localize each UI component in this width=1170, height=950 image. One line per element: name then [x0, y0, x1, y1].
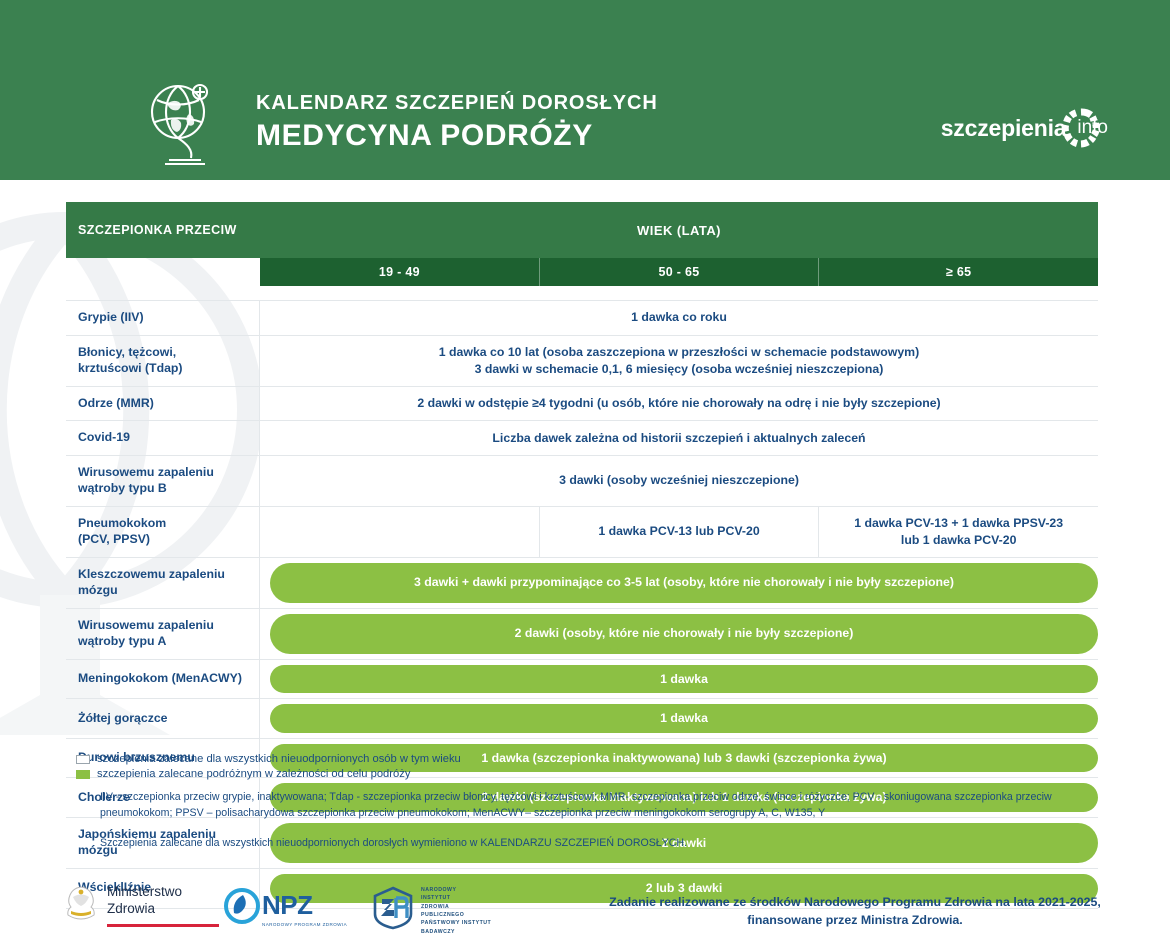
pzh-logo[interactable]: NARODOWY INSTYTUT ZDROWIA PUBLICZNEGO PA… [372, 886, 491, 936]
age-group-19-49: 19 - 49 [260, 258, 540, 286]
row-label-vaccine: Kleszczowemu zapaleniumózgu [66, 558, 260, 608]
table-row: Odrze (MMR)2 dawki w odstępie ≥4 tygodni… [66, 387, 1098, 422]
recommendation-pill: 1 dawka [270, 704, 1098, 733]
column-header-vaccine: SZCZEPIONKA PRZECIW [66, 202, 260, 258]
recommendation-pill: 1 dawka [270, 665, 1098, 694]
row-recommendation-age-1 [260, 507, 540, 557]
table-row: Wirusowemu zapaleniuwątroby typu A2 dawk… [66, 609, 1098, 660]
row-recommendation-all-ages: 1 dawka co roku [260, 301, 1098, 335]
polish-eagle-icon [64, 884, 98, 927]
pzh-line4: PUBLICZNEGO [421, 911, 491, 919]
row-label-vaccine: Błonicy, tężcowi,krztuścowi (Tdap) [66, 336, 260, 386]
row-recommendation-traveller: 1 dawka [260, 699, 1098, 738]
ministry-line1: Ministerstwo [107, 884, 219, 901]
pzh-line3: ZDROWIA [421, 903, 491, 911]
legend: szczepienia zalecane dla wszystkich nieu… [76, 753, 461, 783]
table-row: Meningokokom (MenACWY)1 dawka [66, 660, 1098, 700]
row-label-vaccine: Wirusowemu zapaleniuwątroby typu A [66, 609, 260, 659]
header-banner: KALENDARZ SZCZEPIEŃ DOROSŁYCH MEDYCYNA P… [0, 0, 1170, 180]
ministry-line2: Zdrowia [107, 901, 219, 918]
banner-title-line1: KALENDARZ SZCZEPIEŃ DOROSŁYCH [256, 92, 658, 114]
pzh-line2: INSTYTUT [421, 894, 491, 902]
npz-droplet-icon [222, 886, 262, 931]
row-label-vaccine: Grypie (IIV) [66, 301, 260, 335]
legend-label-travellers: szczepienia zalecane podróżnym w zależno… [97, 768, 410, 780]
reference-note: Szczepienia zalecane dla wszystkich nieu… [100, 836, 1120, 852]
row-label-vaccine: Żółtej gorączce [66, 699, 260, 738]
infographic-page: KALENDARZ SZCZEPIEŃ DOROSŁYCH MEDYCYNA P… [0, 0, 1170, 950]
row-recommendation-all-ages: 3 dawki (osoby wcześniej nieszczepione) [260, 456, 1098, 505]
row-recommendation-traveller: 3 dawki + dawki przypominające co 3-5 la… [260, 558, 1098, 608]
table-header: SZCZEPIONKA PRZECIW WIEK (LATA) 19 - 49 … [66, 202, 1098, 286]
table-row: Grypie (IIV)1 dawka co roku [66, 300, 1098, 336]
table-row: Wirusowemu zapaleniuwątroby typu B3 dawk… [66, 456, 1098, 506]
legend-label-all-adults: szczepienia zalecane dla wszystkich nieu… [97, 753, 461, 765]
row-recommendation-traveller: 1 dawka [260, 660, 1098, 699]
row-recommendation-per-age: 1 dawka PCV-13 lub PCV-201 dawka PCV-13 … [260, 507, 1098, 557]
brand-suffix: info [1077, 117, 1108, 139]
recommendation-pill: 2 dawki (osoby, które nie chorowały i ni… [270, 614, 1098, 654]
age-group-50-65: 50 - 65 [540, 258, 820, 286]
age-header-title: WIEK (LATA) [260, 202, 1098, 258]
footer: Ministerstwo Zdrowia NPZ NARODOWY PROGRA… [0, 878, 1170, 950]
table-row: Covid-19Liczba dawek zależna od historii… [66, 421, 1098, 456]
pzh-shield-icon [372, 886, 414, 935]
legend-swatch-green-icon [76, 770, 90, 779]
npz-label: NPZ [262, 890, 347, 921]
row-label-vaccine: Odrze (MMR) [66, 387, 260, 421]
row-recommendation-age-2: 1 dawka PCV-13 lub PCV-20 [540, 507, 820, 557]
banner-titles: KALENDARZ SZCZEPIEŃ DOROSŁYCH MEDYCYNA P… [256, 92, 658, 154]
row-label-vaccine: Meningokokom (MenACWY) [66, 660, 260, 699]
footnotes: IIV - szczepionka przeciw grypie, inakty… [100, 790, 1120, 866]
globe-icon [145, 78, 217, 168]
abbreviations-note: IIV - szczepionka przeciw grypie, inakty… [100, 790, 1120, 822]
ministry-of-health-logo[interactable]: Ministerstwo Zdrowia [64, 884, 219, 927]
pzh-text-block: NARODOWY INSTYTUT ZDROWIA PUBLICZNEGO PA… [421, 886, 491, 936]
table-row: Błonicy, tężcowi,krztuścowi (Tdap)1 dawk… [66, 336, 1098, 387]
table-row: Kleszczowemu zapaleniumózgu3 dawki + daw… [66, 558, 1098, 609]
row-recommendation-all-ages: 1 dawka co 10 lat (osoba zaszczepiona w … [260, 336, 1098, 386]
legend-item-all-adults: szczepienia zalecane dla wszystkich nieu… [76, 753, 461, 765]
age-group-65plus: ≥ 65 [819, 258, 1098, 286]
npz-text-block: NPZ NARODOWY PROGRAM ZDROWIA [262, 890, 347, 927]
pzh-line1: NARODOWY [421, 886, 491, 894]
row-recommendation-all-ages: 2 dawki w odstępie ≥4 tygodni (u osób, k… [260, 387, 1098, 421]
row-label-vaccine: Pneumokokom(PCV, PPSV) [66, 507, 260, 557]
npz-logo[interactable]: NPZ NARODOWY PROGRAM ZDROWIA [222, 886, 347, 931]
brand-name: szczepienia [941, 115, 1067, 142]
legend-item-travellers: szczepienia zalecane podróżnym w zależno… [76, 768, 461, 780]
row-recommendation-traveller: 2 dawki (osoby, które nie chorowały i ni… [260, 609, 1098, 659]
pzh-line5: PAŃSTWOWY INSTYTUT [421, 919, 491, 927]
recommendation-pill: 3 dawki + dawki przypominające co 3-5 la… [270, 563, 1098, 603]
age-subheaders: 19 - 49 50 - 65 ≥ 65 [260, 258, 1098, 286]
table-row: Żółtej gorączce1 dawka [66, 699, 1098, 739]
row-recommendation-age-3: 1 dawka PCV-13 + 1 dawka PPSV-23lub 1 da… [819, 507, 1098, 557]
banner-title-line2: MEDYCYNA PODRÓŻY [256, 119, 658, 154]
legend-swatch-white-icon [76, 755, 90, 764]
row-recommendation-all-ages: Liczba dawek zależna od historii szczepi… [260, 421, 1098, 455]
funding-note: Zadanie realizowane ze środków Narodoweg… [570, 894, 1140, 929]
szczepienia-info-logo[interactable]: szczepienia [941, 108, 1108, 148]
pzh-line6: BADAWCZY [421, 928, 491, 936]
ministry-text-block: Ministerstwo Zdrowia [107, 884, 219, 926]
column-header-ages: WIEK (LATA) 19 - 49 50 - 65 ≥ 65 [260, 202, 1098, 286]
npz-subtitle: NARODOWY PROGRAM ZDROWIA [262, 922, 347, 927]
row-label-vaccine: Covid-19 [66, 421, 260, 455]
table-row: Pneumokokom(PCV, PPSV)1 dawka PCV-13 lub… [66, 507, 1098, 558]
header-body-gap [66, 286, 1098, 300]
row-label-vaccine: Wirusowemu zapaleniuwątroby typu B [66, 456, 260, 505]
ministry-red-rule [107, 924, 219, 927]
